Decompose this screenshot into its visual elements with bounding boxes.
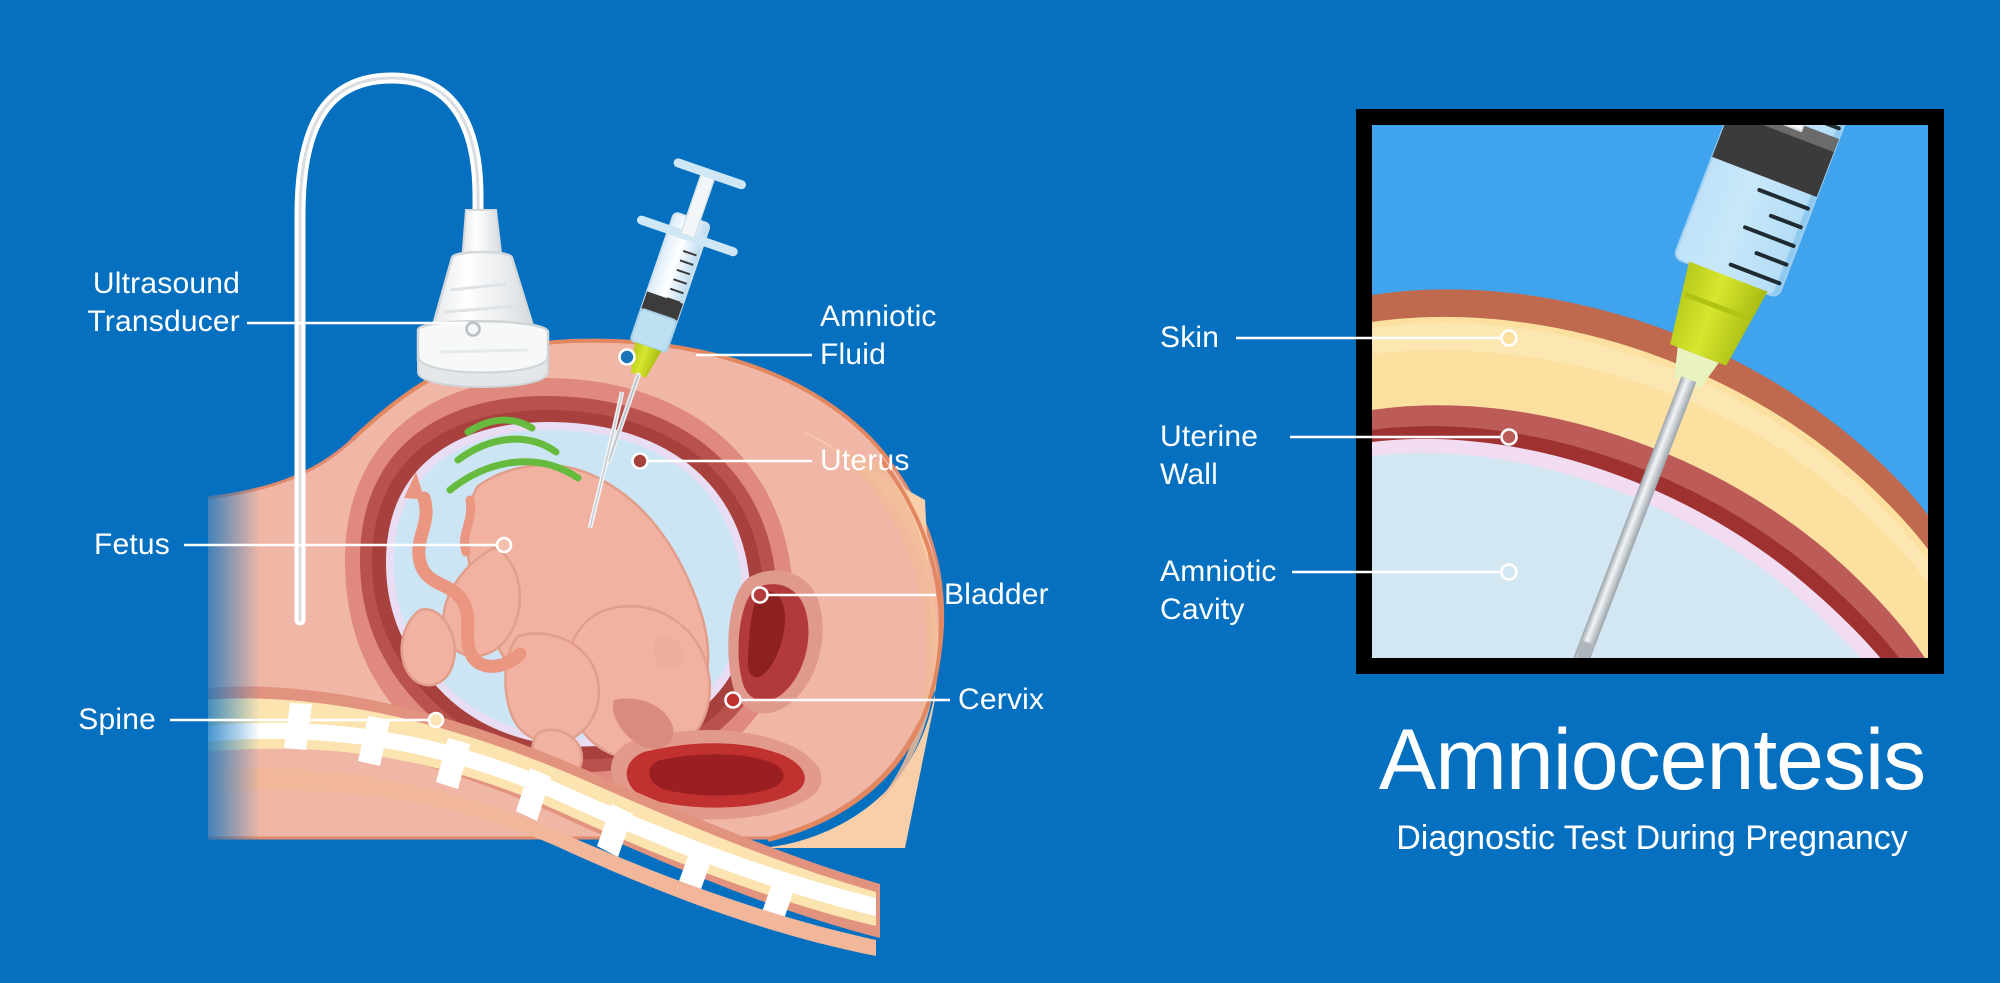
label-cervix: Cervix [958, 681, 1158, 719]
label-fetus: Fetus [20, 526, 170, 564]
label-amniotic-cavity: Amniotic Cavity [1160, 553, 1390, 629]
label-spine: Spine [20, 701, 156, 739]
label-skin: Skin [1160, 319, 1360, 357]
page-title: Amniocentesis [1362, 714, 1942, 806]
label-uterus: Uterus [820, 442, 1020, 480]
illustration-canvas: Ultrasound Transducer Fetus Spine Amniot… [0, 0, 2000, 983]
page-subtitle: Diagnostic Test During Pregnancy [1362, 818, 1942, 858]
label-uterine-wall: Uterine Wall [1160, 418, 1380, 494]
label-ultrasound-transducer: Ultrasound Transducer [20, 265, 240, 341]
label-bladder: Bladder [944, 576, 1164, 614]
label-amniotic-fluid: Amniotic Fluid [820, 298, 1050, 374]
